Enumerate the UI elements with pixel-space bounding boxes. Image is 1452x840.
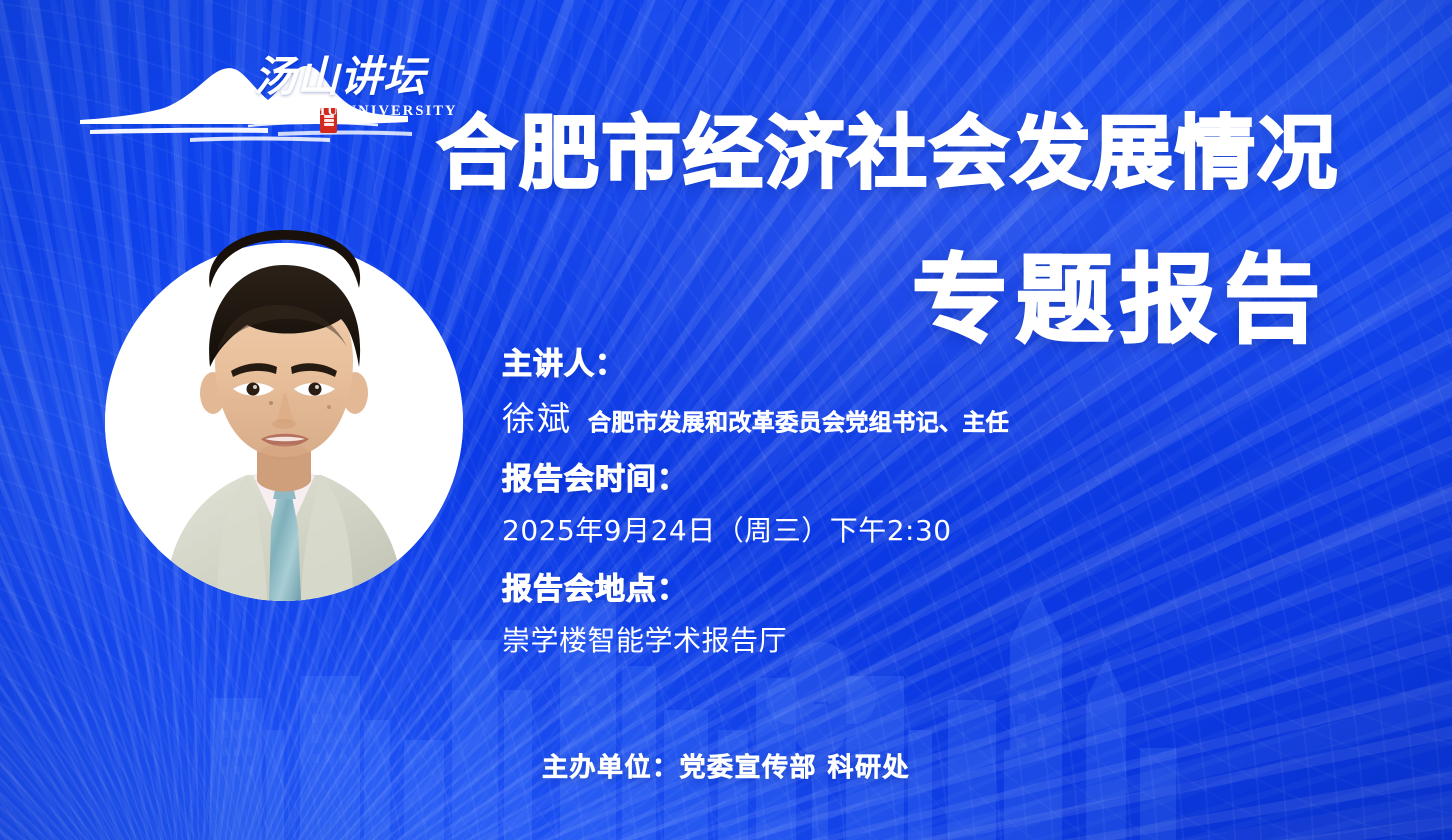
- poster-title-line-2: 专题报告: [912, 252, 1328, 348]
- organizer-text: 主办单位：党委宣传部 科研处: [542, 755, 910, 781]
- time-value: 2025年9月24日（周三）下午2:30: [502, 517, 1262, 545]
- time-label: 报告会时间：: [502, 465, 1262, 495]
- logo-english-name: CHAOHU UNIVERSITY: [262, 104, 458, 119]
- venue-value: 崇学楼智能学术报告厅: [502, 627, 1262, 655]
- speaker-portrait-avatar: [105, 243, 463, 601]
- poster-title-line-1: 合肥市经济社会发展情况: [437, 114, 1339, 194]
- speaker-group: 主讲人： 徐斌 合肥市发展和改革委员会党组书记、主任: [502, 350, 1262, 435]
- logo-chinese-name: 汤山讲坛: [254, 56, 426, 98]
- poster-canvas: 汤山讲坛 CHAOHU UNIVERSITY 合肥市经济社会发展情况 专题报告: [0, 0, 1452, 840]
- speaker-name-row: 徐斌 合肥市发展和改革委员会党组书记、主任: [502, 402, 1262, 435]
- event-info-block: 主讲人： 徐斌 合肥市发展和改革委员会党组书记、主任 报告会时间： 2025年9…: [502, 350, 1262, 655]
- speaker-job-title: 合肥市发展和改革委员会党组书记、主任: [588, 412, 1009, 435]
- venue-group: 报告会地点： 崇学楼智能学术报告厅: [502, 575, 1262, 655]
- speaker-label: 主讲人：: [502, 350, 1262, 380]
- venue-label: 报告会地点：: [502, 575, 1262, 605]
- time-group: 报告会时间： 2025年9月24日（周三）下午2:30: [502, 465, 1262, 545]
- speaker-photo: [105, 243, 463, 601]
- speaker-name: 徐斌: [502, 402, 572, 435]
- chaohu-university-logo: 汤山讲坛 CHAOHU UNIVERSITY: [72, 52, 417, 144]
- footer: 主办单位：党委宣传部 科研处: [0, 755, 1452, 781]
